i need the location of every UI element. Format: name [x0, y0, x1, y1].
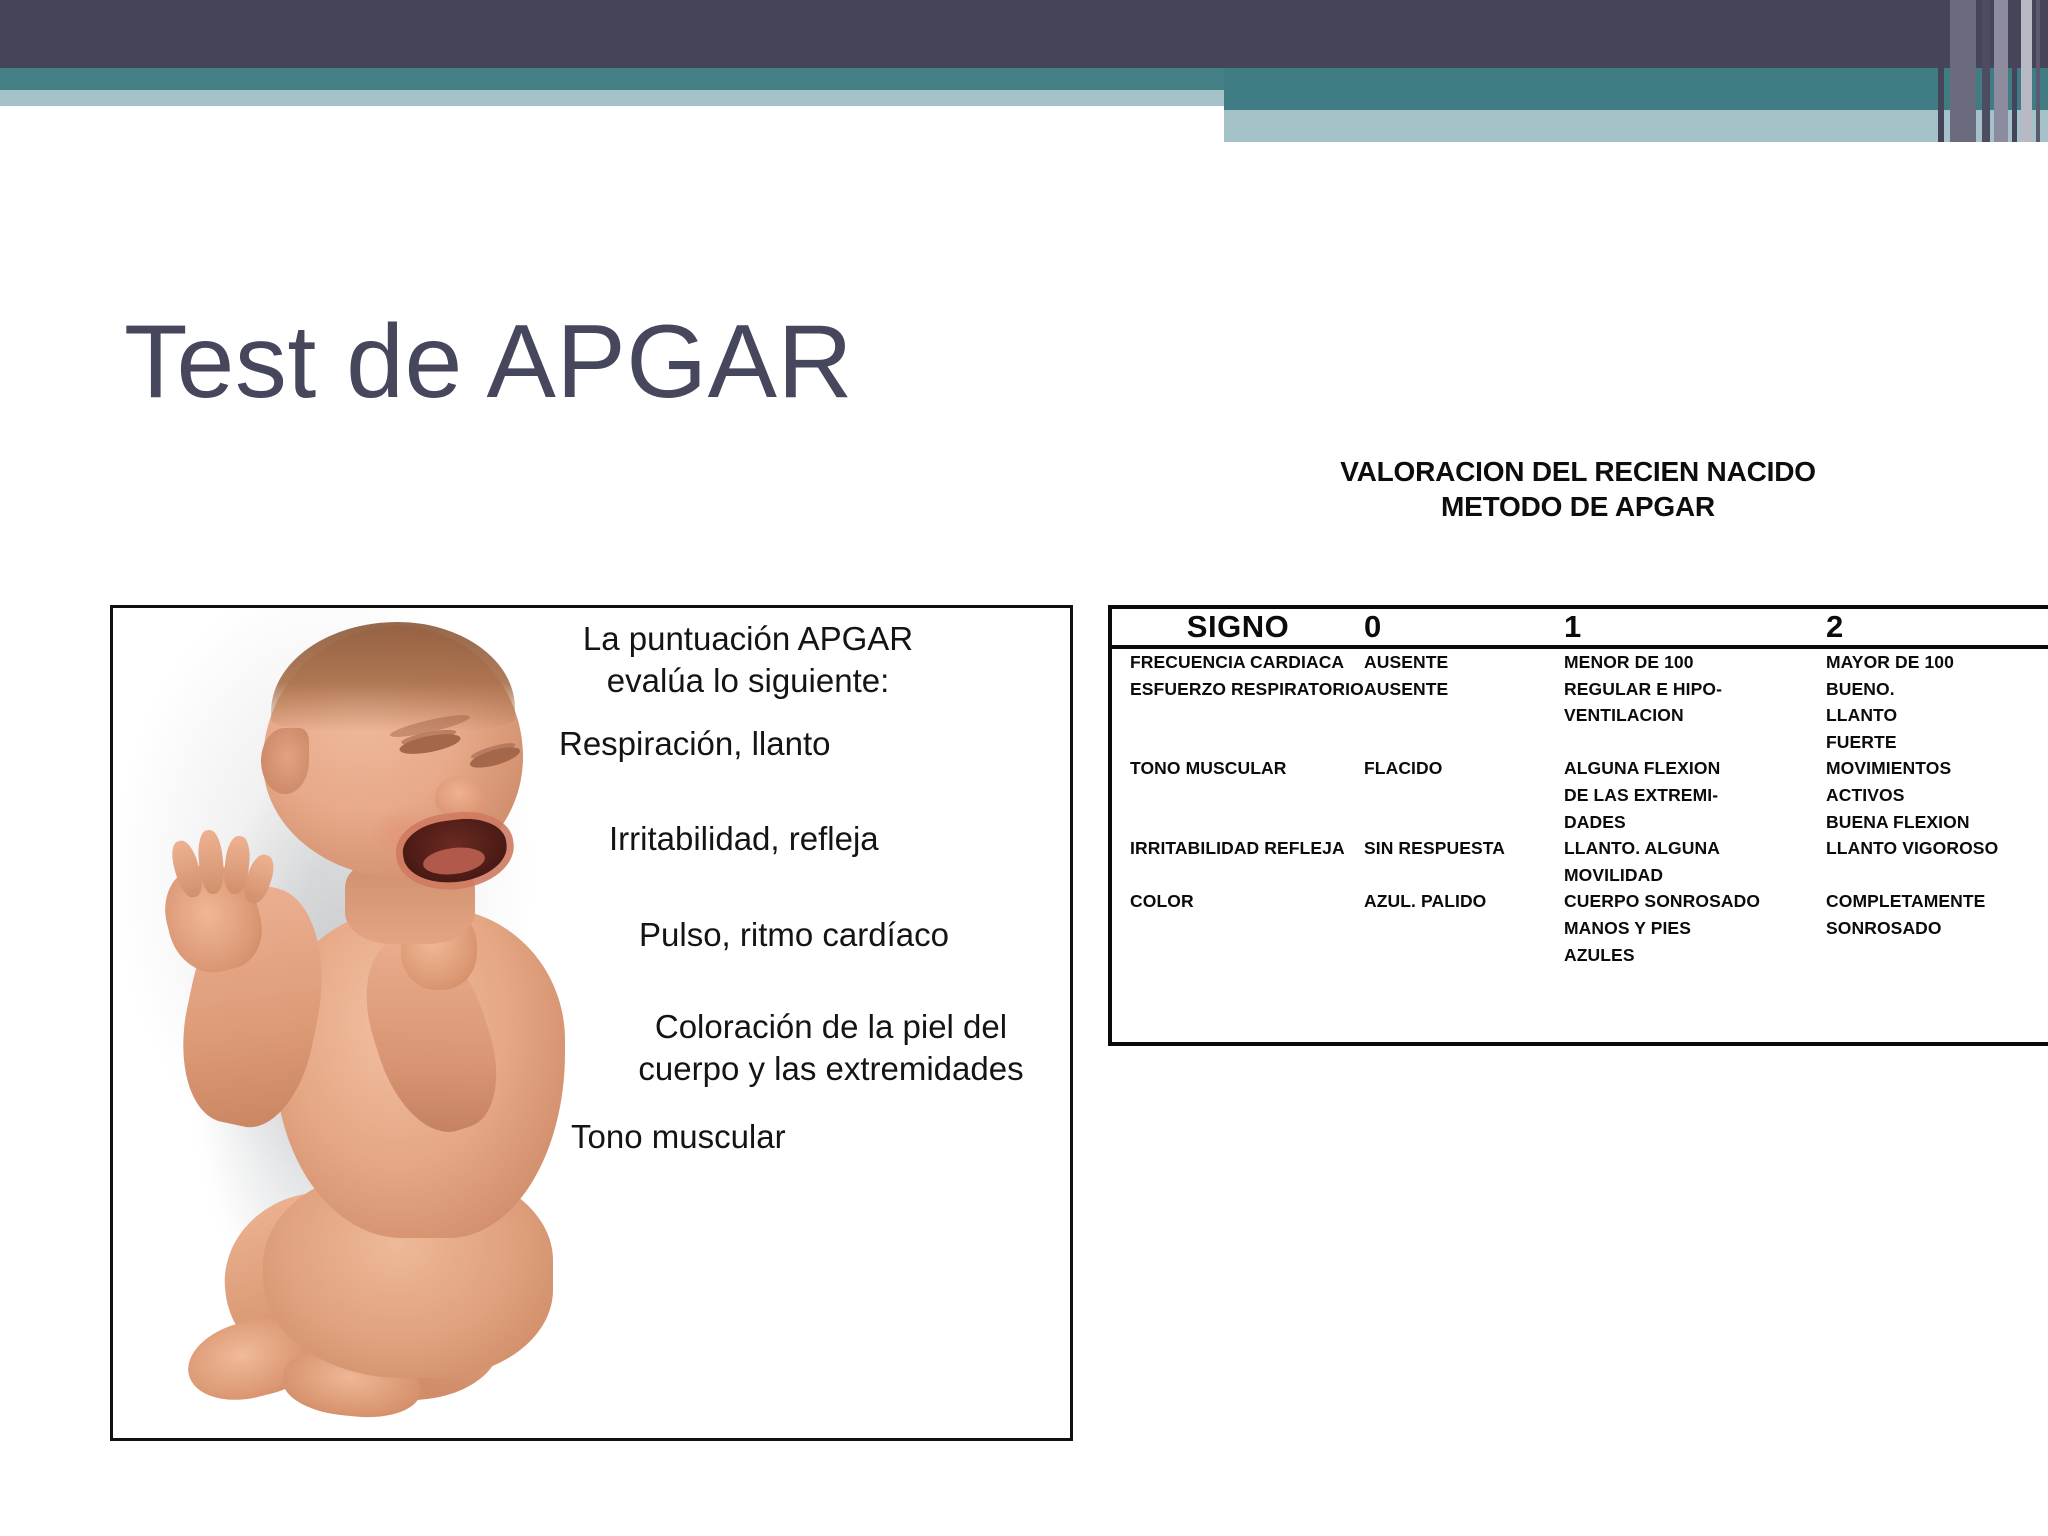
banner-stripe [2021, 0, 2032, 142]
table-cell-score-1: CUERPO SONROSADOMANOS Y PIESAZULES [1564, 888, 1826, 1042]
newborn-baby-photo [113, 608, 573, 1438]
banner-stripe [1938, 0, 1944, 142]
banner-vertical-stripes [1928, 0, 2048, 142]
table-cell-sign: IRRITABILIDAD REFLEJA [1112, 835, 1364, 888]
column-header-signo: SIGNO [1112, 609, 1364, 647]
column-header-score-2: 2 [1826, 609, 2048, 647]
column-header-score-1: 1 [1564, 609, 1826, 647]
table-cell-score-2: MOVIMIENTOSACTIVOSBUENA FLEXION [1826, 755, 2048, 835]
table-cell-sign: TONO MUSCULAR [1112, 755, 1364, 835]
banner-stripe [1950, 0, 1976, 142]
column-header-score-0: 0 [1364, 609, 1564, 647]
apgar-list-item-respiracion: Respiración, llanto [559, 723, 830, 765]
banner-teal-left [0, 68, 1224, 90]
apgar-list-item-coloracion: Coloración de la piel del cuerpo y las e… [601, 1006, 1061, 1089]
apgar-scoring-table: SIGNO 0 1 2 FRECUENCIA CARDIACAAUSENTEME… [1112, 609, 2048, 1042]
table-cell-score-0: AUSENTE [1364, 676, 1564, 756]
table-body: FRECUENCIA CARDIACAAUSENTEMENOR DE 100MA… [1112, 647, 2048, 1042]
apgar-list-heading: La puntuación APGAR evalúa lo siguiente: [553, 618, 943, 701]
table-cell-score-2: COMPLETAMENTESONROSADO [1826, 888, 2048, 1042]
table-cell-score-1: LLANTO. ALGUNAMOVILIDAD [1564, 835, 1826, 888]
banner-stripe [1994, 0, 2008, 142]
banner-teal-right [1224, 68, 2048, 110]
page-title: Test de APGAR [124, 305, 853, 419]
baby-nose [435, 776, 487, 818]
table-cell-sign: COLOR [1112, 888, 1364, 1042]
apgar-list-item-pulso: Pulso, ritmo cardíaco [639, 914, 949, 956]
table-cell-score-1: REGULAR E HIPO-VENTILACION [1564, 676, 1826, 756]
banner-light-left [0, 90, 1224, 106]
table-row: TONO MUSCULARFLACIDOALGUNA FLEXIONDE LAS… [1112, 755, 2048, 835]
table-cell-score-2: BUENO.LLANTOFUERTE [1826, 676, 2048, 756]
table-row: IRRITABILIDAD REFLEJASIN RESPUESTALLANTO… [1112, 835, 2048, 888]
table-cell-score-0: FLACIDO [1364, 755, 1564, 835]
apgar-image-panel: La puntuación APGAR evalúa lo siguiente:… [110, 605, 1073, 1441]
banner-dark-right [1224, 0, 2048, 68]
table-cell-score-2: LLANTO VIGOROSO [1826, 835, 2048, 888]
apgar-list-item-tono: Tono muscular [571, 1116, 786, 1158]
table-row: ESFUERZO RESPIRATORIOAUSENTEREGULAR E HI… [1112, 676, 2048, 756]
apgar-criteria-list: La puntuación APGAR evalúa lo siguiente:… [543, 608, 1068, 1438]
table-row: COLORAZUL. PALIDOCUERPO SONROSADOMANOS Y… [1112, 888, 2048, 1042]
table-cell-score-0: AUSENTE [1364, 647, 1564, 676]
banner-stripe [1982, 0, 1990, 142]
banner-stripe [2036, 0, 2040, 142]
table-cell-score-2: MAYOR DE 100 [1826, 647, 2048, 676]
apgar-table-title-line1: VALORACION DEL RECIEN NACIDO [1108, 455, 2048, 490]
apgar-table-container: SIGNO 0 1 2 FRECUENCIA CARDIACAAUSENTEME… [1108, 605, 2048, 1046]
table-row: FRECUENCIA CARDIACAAUSENTEMENOR DE 100MA… [1112, 647, 2048, 676]
table-cell-score-1: ALGUNA FLEXIONDE LAS EXTREMI-DADES [1564, 755, 1826, 835]
banner-stripe [2012, 0, 2017, 142]
apgar-list-item-irritabilidad: Irritabilidad, refleja [609, 818, 879, 860]
table-header-row: SIGNO 0 1 2 [1112, 609, 2048, 647]
slide: Test de APGAR [0, 0, 2048, 1536]
table-cell-score-0: AZUL. PALIDO [1364, 888, 1564, 1042]
apgar-table-title-line2: METODO DE APGAR [1108, 490, 2048, 525]
table-cell-sign: ESFUERZO RESPIRATORIO [1112, 676, 1364, 756]
table-cell-sign: FRECUENCIA CARDIACA [1112, 647, 1364, 676]
banner-dark-left [0, 0, 1224, 68]
banner-light-right [1224, 110, 2048, 142]
baby-ear [261, 728, 309, 794]
table-cell-score-0: SIN RESPUESTA [1364, 835, 1564, 888]
table-cell-score-1: MENOR DE 100 [1564, 647, 1826, 676]
apgar-table-title: VALORACION DEL RECIEN NACIDO METODO DE A… [1108, 455, 2048, 524]
